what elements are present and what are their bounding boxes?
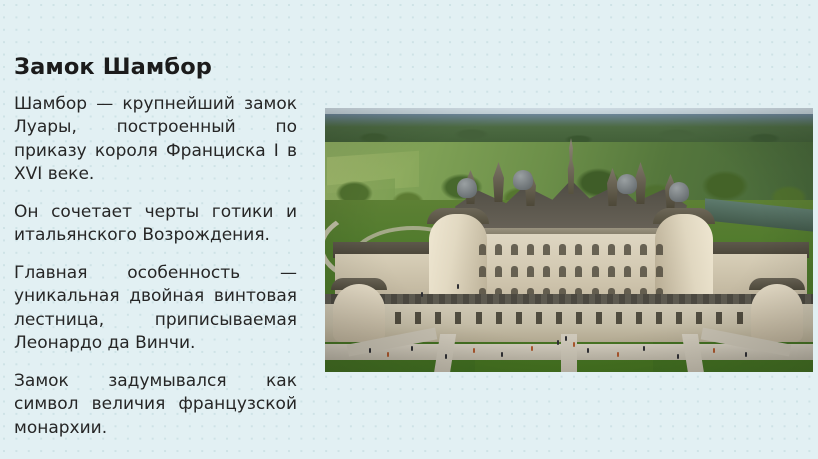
body-paragraph-2: Он сочетает черты готики и итальянского … [14, 201, 297, 248]
body-paragraph-1: Шамбор — крупнейший замок Луары, построе… [14, 93, 297, 187]
body-paragraph-4: Замок задумывался как символ величия фра… [14, 370, 297, 441]
walkway [561, 334, 577, 372]
text-column: Замок Шамбор Шамбор — крупнейший замок Л… [14, 54, 297, 440]
dome-turret [457, 178, 477, 198]
pavilion-tower-right [751, 284, 803, 342]
dome-turret [617, 174, 637, 194]
page-title: Замок Шамбор [14, 54, 297, 81]
dome-turret [669, 182, 689, 202]
dome-turret [513, 170, 533, 190]
slide: Замок Шамбор Шамбор — крупнейший замок Л… [0, 0, 818, 459]
window-row [479, 244, 663, 255]
window-row [479, 266, 663, 277]
chateau-photo [325, 108, 813, 372]
gallery-window-row [335, 312, 803, 324]
body-paragraph-3: Главная особенность — уникальная двойная… [14, 262, 297, 356]
pavilion-tower-left [333, 284, 385, 342]
spire [493, 162, 504, 202]
photo-canvas [325, 108, 813, 372]
